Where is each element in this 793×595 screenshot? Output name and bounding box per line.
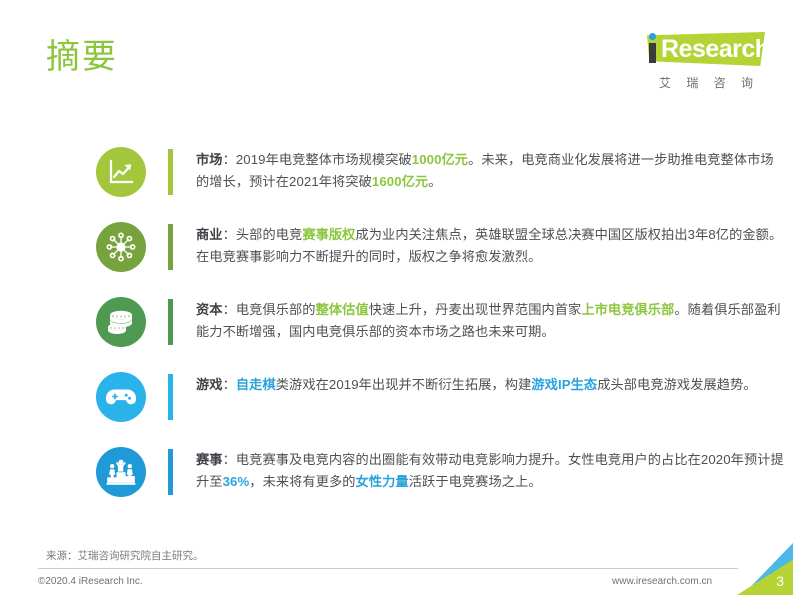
summary-row: 游戏：自走棋类游戏在2019年出现并不断衍生拓展，构建游戏IP生态成头部电竞游戏… <box>96 365 786 440</box>
corner-green-triangle <box>737 543 793 595</box>
text-segment: ：2019年电竞整体市场规模突破 <box>223 152 412 167</box>
network-nodes-icon <box>96 222 146 272</box>
text-segment: 游戏IP生态 <box>531 377 597 392</box>
row-accent-bar <box>168 299 173 345</box>
text-segment: 活跃于电竞赛场之上。 <box>409 474 542 489</box>
text-segment: 1600亿元 <box>372 174 428 189</box>
footer-url: www.iresearch.com.cn <box>612 576 712 587</box>
coin-stack-icon <box>96 297 146 347</box>
text-segment: 36% <box>223 474 250 489</box>
text-segment: 类游戏在2019年出现并不断衍生拓展，构建 <box>276 377 532 392</box>
text-segment: 资本 <box>196 302 223 317</box>
gamepad-icon <box>96 372 146 422</box>
text-segment: 游戏 <box>196 377 223 392</box>
summary-row: 市场：2019年电竞整体市场规模突破1000亿元。未来，电竞商业化发展将进一步助… <box>96 140 786 215</box>
slide-canvas: 摘要 Research 艾 瑞 咨 询 市场：2019年电竞整体市场规模突破10… <box>0 0 793 595</box>
text-segment: 女性力量 <box>356 474 409 489</box>
text-segment: 商业 <box>196 227 223 242</box>
text-segment: ，未来将有更多的 <box>249 474 355 489</box>
row-accent-bar <box>168 449 173 495</box>
logo-chinese-name: 艾 瑞 咨 询 <box>655 74 763 91</box>
row-accent-bar <box>168 374 173 420</box>
podium-winners-icon <box>96 447 146 497</box>
summary-row: 资本：电竞俱乐部的整体估值快速上升，丹麦出现世界范围内首家上市电竞俱乐部。随着俱… <box>96 290 786 365</box>
logo-i-stem-icon <box>649 43 656 63</box>
iresearch-logo: Research 艾 瑞 咨 询 <box>625 26 765 98</box>
text-segment: 成头部电竞游戏发展趋势。 <box>597 377 756 392</box>
copyright-text: ©2020.4 iResearch Inc. <box>38 576 143 587</box>
text-segment: 赛事版权 <box>302 227 355 242</box>
text-segment: 。 <box>428 174 441 189</box>
footer-divider <box>38 568 738 569</box>
summary-rows: 市场：2019年电竞整体市场规模突破1000亿元。未来，电竞商业化发展将进一步助… <box>96 140 786 515</box>
text-segment: 上市电竞俱乐部 <box>581 302 674 317</box>
logo-i-dot-icon <box>649 33 656 40</box>
text-segment: ：头部的电竞 <box>223 227 303 242</box>
text-segment: 整体估值 <box>316 302 369 317</box>
page-title: 摘要 <box>46 40 118 74</box>
logo-mark: Research <box>625 26 765 72</box>
page-number: 3 <box>776 573 784 589</box>
text-segment: 自走棋 <box>236 377 276 392</box>
row-text: 游戏：自走棋类游戏在2019年出现并不断衍生拓展，构建游戏IP生态成头部电竞游戏… <box>196 374 786 396</box>
summary-row: 赛事：电竞赛事及电竞内容的出圈能有效带动电竞影响力提升。女性电竞用户的占比在20… <box>96 440 786 515</box>
row-accent-bar <box>168 149 173 195</box>
row-text: 商业：头部的电竞赛事版权成为业内关注焦点，英雄联盟全球总决赛中国区版权拍出3年8… <box>196 224 786 268</box>
row-text: 赛事：电竞赛事及电竞内容的出圈能有效带动电竞影响力提升。女性电竞用户的占比在20… <box>196 449 786 493</box>
line-chart-growth-icon <box>96 147 146 197</box>
row-text: 市场：2019年电竞整体市场规模突破1000亿元。未来，电竞商业化发展将进一步助… <box>196 149 786 193</box>
row-text: 资本：电竞俱乐部的整体估值快速上升，丹麦出现世界范围内首家上市电竞俱乐部。随着俱… <box>196 299 786 343</box>
source-note: 来源：艾瑞咨询研究院自主研究。 <box>46 548 204 563</box>
logo-wordmark: Research <box>661 35 770 63</box>
text-segment: 1000亿元 <box>412 152 468 167</box>
text-segment: 赛事 <box>196 452 223 467</box>
row-accent-bar <box>168 224 173 270</box>
text-segment: 市场 <box>196 152 223 167</box>
summary-row: 商业：头部的电竞赛事版权成为业内关注焦点，英雄联盟全球总决赛中国区版权拍出3年8… <box>96 215 786 290</box>
text-segment: ：电竞俱乐部的 <box>223 302 316 317</box>
text-segment: 快速上升，丹麦出现世界范围内首家 <box>369 302 582 317</box>
text-segment: ： <box>223 377 236 392</box>
corner-decoration <box>737 543 793 595</box>
